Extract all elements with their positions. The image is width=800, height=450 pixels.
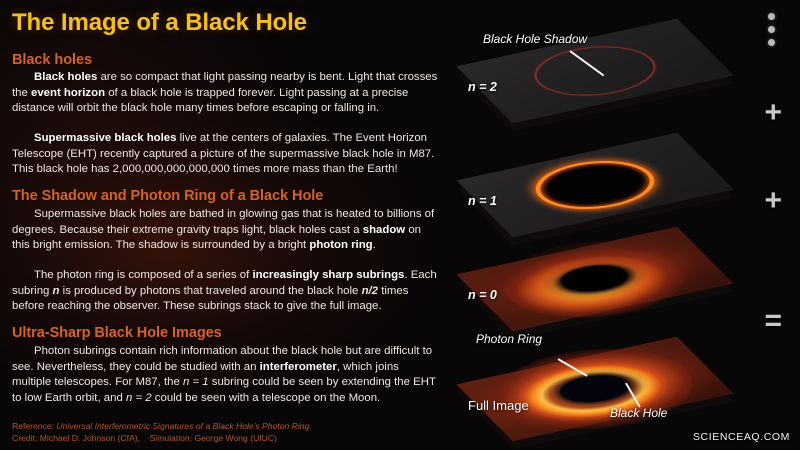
credit-line: Credit: Michael D. Johnson (CfA), Simula…: [12, 433, 442, 444]
reference-line: Reference: Universal Interferometric Sig…: [12, 421, 442, 432]
credit-name: Michael D. Johnson (CfA),: [40, 433, 140, 443]
layer-label-n0: n = 0: [468, 288, 497, 302]
page-title: The Image of a Black Hole: [12, 9, 307, 37]
vertical-ellipsis-icon: [768, 13, 776, 52]
annotation-photon-ring: Photon Ring: [476, 332, 542, 346]
layer-stack-diagram: n = 2 Black Hole Shadow + n = 1 +: [458, 0, 800, 450]
annotation-black-hole-shadow: Black Hole Shadow: [483, 32, 587, 46]
infographic-poster: The Image of a Black Hole Black holes Bl…: [0, 0, 800, 450]
plane-full-image: [456, 337, 733, 442]
diagram-layer-n2: n = 2 Black Hole Shadow: [458, 4, 800, 129]
paragraph-black-holes-2: Supermassive black holes live at the cen…: [12, 131, 440, 178]
section-heading-shadow-photon-ring: The Shadow and Photon Ring of a Black Ho…: [12, 188, 323, 204]
watermark: SCIENCEAQ.COM: [693, 431, 790, 443]
ring-container-full: [456, 337, 733, 442]
paragraph-shadow-1: Supermassive black holes are bathed in g…: [12, 207, 440, 254]
section-heading-black-holes: Black holes: [12, 52, 92, 68]
paragraph-subrings: The photon ring is composed of a series …: [12, 268, 440, 315]
annotation-black-hole: Black Hole: [610, 406, 667, 420]
section-heading-ultra-sharp: Ultra-Sharp Black Hole Images: [12, 325, 222, 341]
credit-label: Credit:: [12, 433, 37, 443]
reference-label: Reference:: [12, 421, 54, 431]
simulation-label: Simulation:: [150, 433, 193, 443]
simulation-name: George Wong (UIUC): [194, 433, 276, 443]
paragraph-ultra-sharp: Photon subrings contain rich information…: [12, 344, 440, 406]
diagram-layer-n0: n = 0: [458, 212, 800, 337]
text-column: The Image of a Black Hole Black holes Bl…: [0, 0, 458, 450]
ring-container-n0: [456, 227, 733, 332]
paragraph-black-holes-1: Black holes are so compact that light pa…: [12, 70, 440, 117]
layer-label-n2: n = 2: [468, 80, 497, 94]
layer-label-full-image: Full Image: [468, 398, 529, 413]
layer-label-n1: n = 1: [468, 194, 497, 208]
reference-title: Universal Interferometric Signatures of …: [56, 421, 309, 431]
plane-n0: [456, 227, 733, 332]
